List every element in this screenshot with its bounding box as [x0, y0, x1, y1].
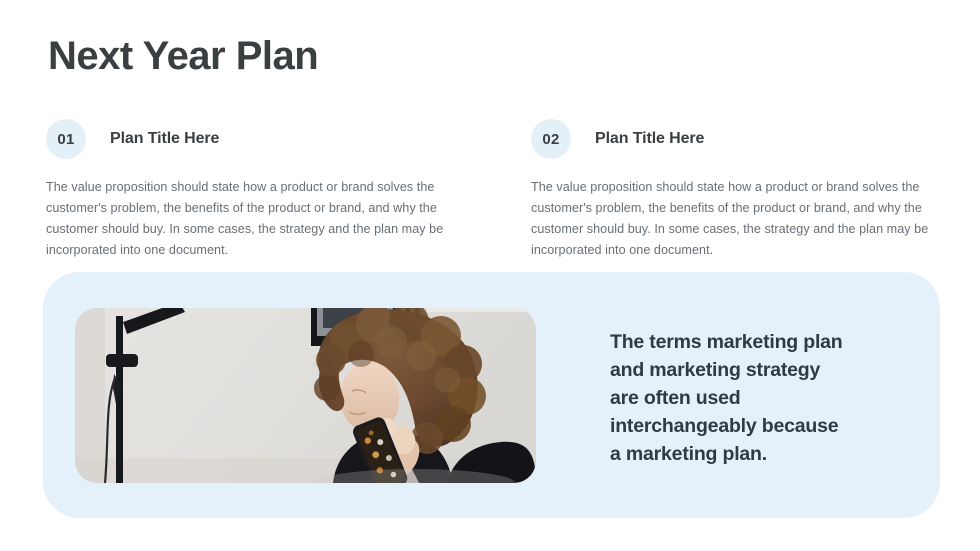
plan-number-badge: 01	[46, 119, 86, 159]
quote-line: The terms marketing plan	[610, 328, 920, 356]
plan-number-badge: 02	[531, 119, 571, 159]
plan-title: Plan Title Here	[110, 130, 219, 148]
feature-panel: The terms marketing plan and marketing s…	[43, 272, 940, 518]
page-title: Next Year Plan	[48, 33, 318, 79]
quote-line: are often used	[610, 384, 920, 412]
plan-column-02: 02 Plan Title Here The value proposition…	[531, 119, 943, 261]
plan-column-01: 01 Plan Title Here The value proposition…	[46, 119, 458, 261]
plan-title: Plan Title Here	[595, 130, 704, 148]
quote-line: and marketing strategy	[610, 356, 920, 384]
plan-body-text: The value proposition should state how a…	[531, 177, 939, 261]
feature-photo	[75, 308, 536, 483]
plan-header: 01 Plan Title Here	[46, 119, 458, 159]
quote-line: interchangeably because	[610, 412, 920, 440]
quote-line: a marketing plan.	[610, 440, 920, 468]
slide: Next Year Plan 01 Plan Title Here The va…	[0, 0, 980, 551]
feature-quote: The terms marketing plan and marketing s…	[610, 328, 920, 468]
plan-header: 02 Plan Title Here	[531, 119, 943, 159]
plan-body-text: The value proposition should state how a…	[46, 177, 454, 261]
